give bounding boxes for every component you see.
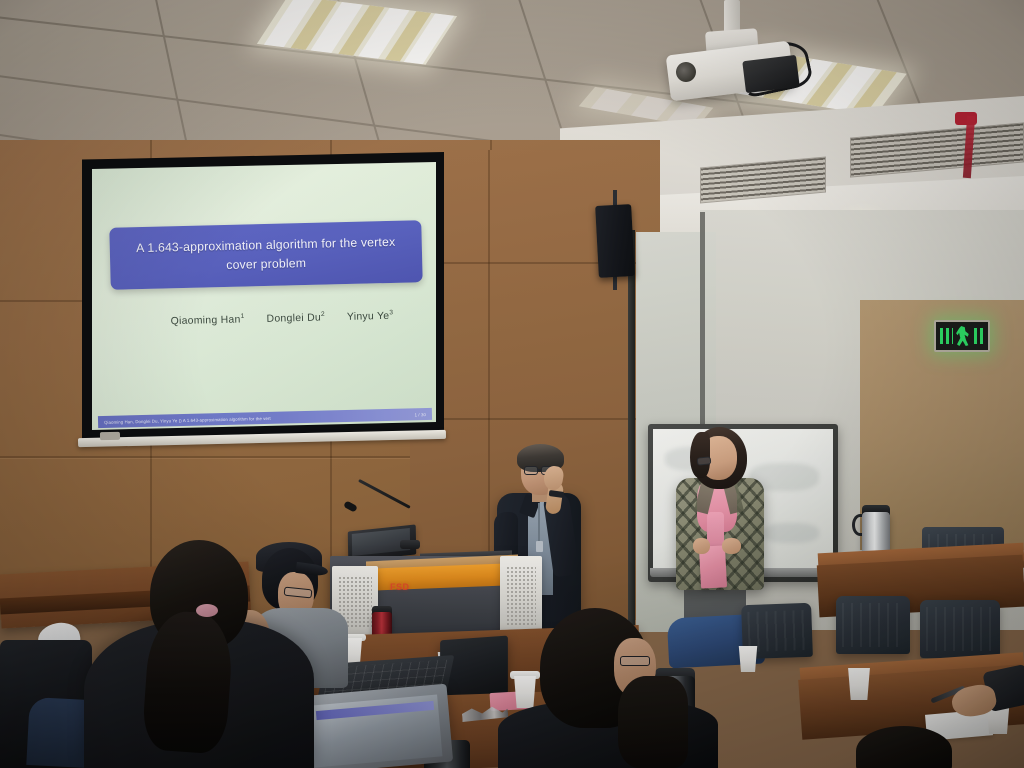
exit-sign-text-right [974,328,985,344]
slide-page-number: 1 / 30 [415,412,426,417]
lectern-brand-logo: FSD [390,582,432,596]
glasses-icon-left-lens [524,466,538,475]
author-2: Donglei Du2 [266,311,325,325]
lecture-hall-photo: A 1.643-approximation algorithm for the … [0,0,1024,768]
projector-connector-plate [742,55,799,93]
audience-person-3-hair [618,676,688,768]
presenter-female-hand-left [693,538,710,554]
glasses-icon-audience-3 [620,656,650,666]
slide-footer-text: Qiaoming Han, Donglei Du, Yinyu Ye () A … [104,415,271,424]
presenter-female-hair-front [690,432,710,478]
glasses-icon-bridge [538,469,542,471]
running-man-icon [956,326,971,346]
audience-chair-1 [836,596,910,654]
presenter-male-lanyard [538,503,540,543]
emergency-exit-sign-icon [934,320,990,352]
author-3: Yinyu Ye3 [347,309,394,323]
audience-chair-2 [920,600,1000,658]
ceiling-light-1 [257,0,457,65]
paper-cup-5 [737,646,759,672]
slide-title-banner: A 1.643-approximation algorithm for the … [109,220,422,290]
hair-tie-icon [196,604,218,617]
presenter-female-hand-right [722,538,741,554]
author-1: Qiaoming Han1 [170,313,244,327]
partition-mullion [628,230,635,630]
microphone-base [400,540,420,549]
screen-pull-clip [100,432,120,440]
lectern-right-speaker-panel [500,556,542,636]
slide-author-list: Qiaoming Han1 Donglei Du2 Yinyu Ye3 [162,309,402,327]
glasses-icon-female [697,456,712,465]
projected-slide: A 1.643-approximation algorithm for the … [92,162,436,430]
slide-title-line-2: cover problem [226,254,306,275]
exit-sign-text-left [940,328,953,344]
audience-person-4-head [856,726,952,768]
wall-speaker-icon [595,204,635,278]
presenter-male-badge [536,541,543,552]
